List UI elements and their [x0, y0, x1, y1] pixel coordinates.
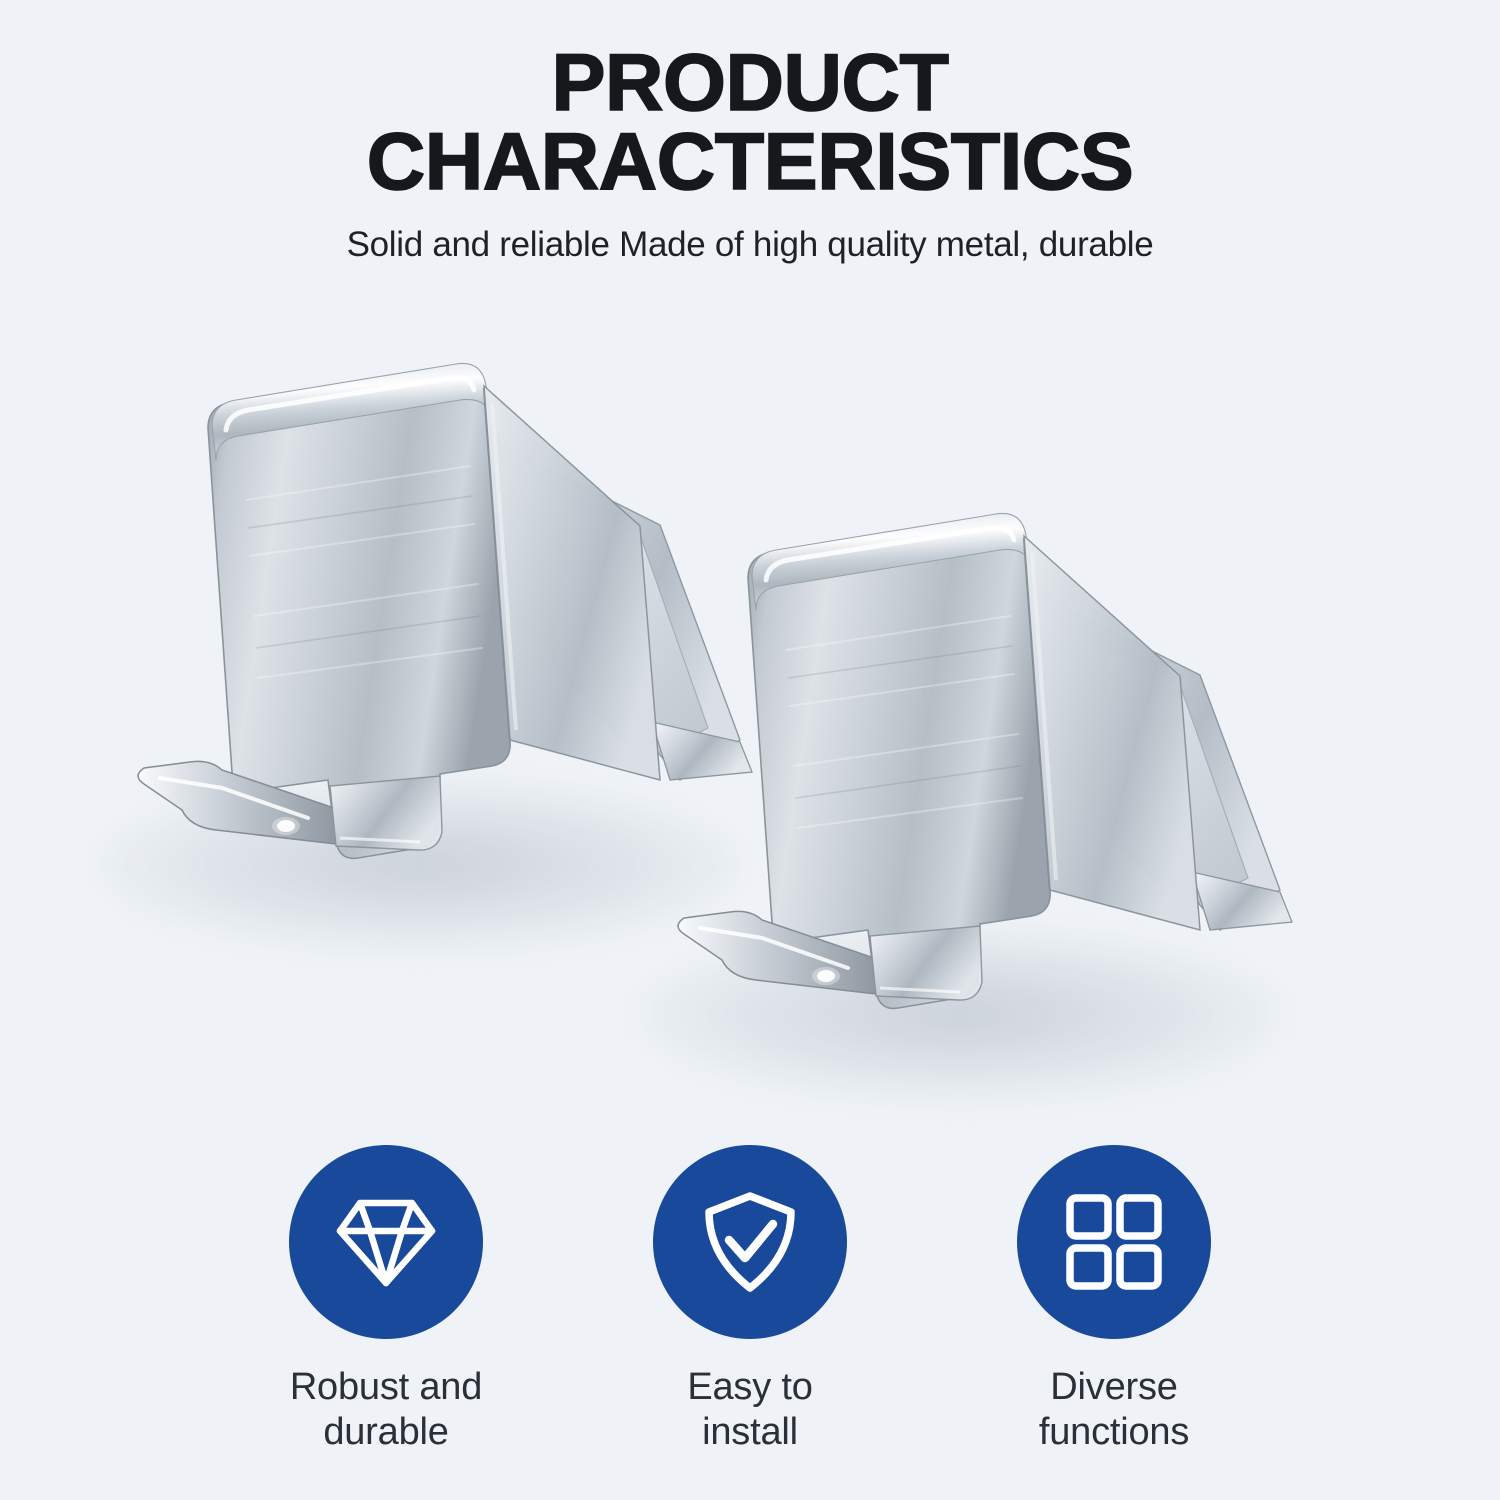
- page-title: PRODUCTCHARACTERISTICS: [0, 44, 1500, 201]
- product-infographic: PRODUCTCHARACTERISTICS Solid and reliabl…: [0, 0, 1500, 1500]
- product-hook-right: [580, 460, 1340, 1120]
- feature-item-diverse-functions: Diverse functions: [994, 1145, 1234, 1455]
- header: PRODUCTCHARACTERISTICS Solid and reliabl…: [0, 0, 1500, 265]
- hook-illustration: [580, 460, 1340, 1120]
- feature-item-easy-install: Easy to install: [630, 1145, 870, 1455]
- diamond-icon: [334, 1193, 438, 1291]
- feature-label: Diverse functions: [1039, 1365, 1189, 1455]
- page-title-line1: PRODUCT: [552, 38, 949, 128]
- feature-item-robust: Robust and durable: [266, 1145, 506, 1455]
- page-title-line2: CHARACTERISTICS: [367, 117, 1134, 207]
- feature-icon-circle: [1017, 1145, 1211, 1339]
- feature-label: Robust and durable: [290, 1365, 482, 1455]
- shield-check-icon: [701, 1190, 799, 1294]
- feature-label: Easy to install: [687, 1365, 812, 1455]
- page-subtitle: Solid and reliable Made of high quality …: [0, 201, 1500, 265]
- feature-icon-circle: [289, 1145, 483, 1339]
- feature-list: Robust and durable Easy to install: [0, 1145, 1500, 1455]
- feature-icon-circle: [653, 1145, 847, 1339]
- product-image-stage: [0, 300, 1500, 1130]
- grid-four-squares-icon: [1064, 1192, 1164, 1292]
